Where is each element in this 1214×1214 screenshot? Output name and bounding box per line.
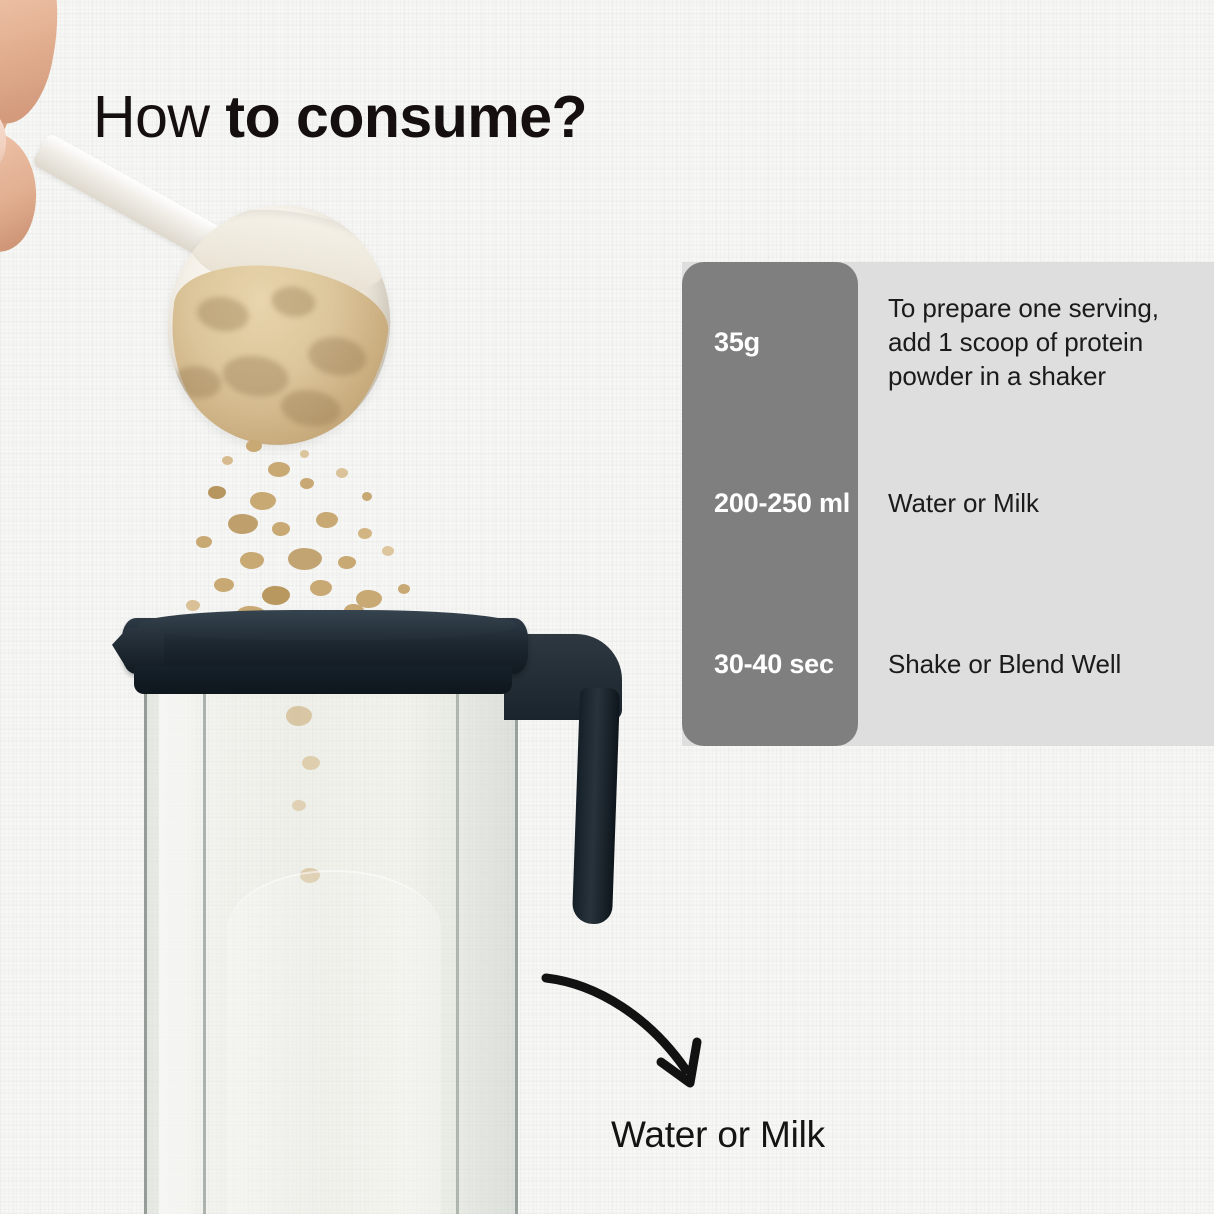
page-title-light: How — [93, 84, 225, 150]
powder-crumb — [336, 468, 348, 478]
powder-crumb — [186, 600, 200, 611]
jar-highlight — [159, 680, 199, 1214]
lid-band — [134, 666, 512, 694]
powder-crumb — [196, 536, 212, 548]
poster-canvas: How to consume? 35g To prepare one servi… — [0, 0, 1214, 1214]
instruction-rows: 35g To prepare one serving, add 1 scoop … — [682, 262, 1214, 746]
jar-facet — [227, 870, 441, 1214]
powder-crumb — [382, 546, 394, 556]
powder-crumb — [228, 514, 258, 534]
row-description: Shake or Blend Well — [858, 648, 1214, 682]
row-amount: 200-250 ml — [682, 488, 858, 520]
powder-crumb — [362, 492, 372, 501]
row-amount: 35g — [682, 327, 858, 359]
jar-edge-right — [456, 680, 459, 1214]
powder-crumb — [310, 580, 332, 596]
powder-crumb — [338, 556, 356, 569]
curved-arrow-icon — [520, 950, 750, 1110]
blender-pitcher-icon — [118, 618, 628, 1214]
powder-crumb — [214, 578, 234, 592]
powder-crumb — [300, 478, 314, 489]
powder-crumb — [288, 548, 322, 570]
powder-crumb — [246, 440, 262, 452]
row-description: To prepare one serving, add 1 scoop of p… — [858, 292, 1214, 393]
handle-grip — [572, 687, 620, 924]
powder-crumb — [300, 450, 309, 458]
row-description: Water or Milk — [858, 487, 1214, 521]
powder-crumb — [262, 586, 290, 605]
arrow-annotation — [520, 950, 750, 1110]
lid-top — [138, 610, 516, 640]
powder-crumb — [316, 512, 338, 528]
table-row: 30-40 sec Shake or Blend Well — [682, 585, 1214, 746]
page-title: How to consume? — [93, 86, 587, 150]
powder-crumb — [398, 584, 410, 594]
table-row: 200-250 ml Water or Milk — [682, 423, 1214, 584]
powder-crumb — [208, 486, 226, 499]
powder-crumb — [240, 552, 264, 569]
page-title-bold: to consume? — [225, 84, 587, 150]
row-amount: 30-40 sec — [682, 649, 858, 681]
powder-crumb — [268, 462, 290, 477]
instruction-panel: 35g To prepare one serving, add 1 scoop … — [682, 262, 1214, 746]
powder-crumb — [358, 528, 372, 539]
powder-crumb — [250, 492, 276, 510]
pitcher-handle — [504, 634, 628, 924]
powder-crumb — [222, 456, 233, 465]
pitcher-jar — [144, 680, 518, 1214]
jar-edge-left — [203, 680, 206, 1214]
arrow-caption: Water or Milk — [611, 1114, 825, 1156]
lid-spout — [112, 628, 164, 670]
table-row: 35g To prepare one serving, add 1 scoop … — [682, 262, 1214, 423]
powder-crumb — [272, 522, 290, 536]
